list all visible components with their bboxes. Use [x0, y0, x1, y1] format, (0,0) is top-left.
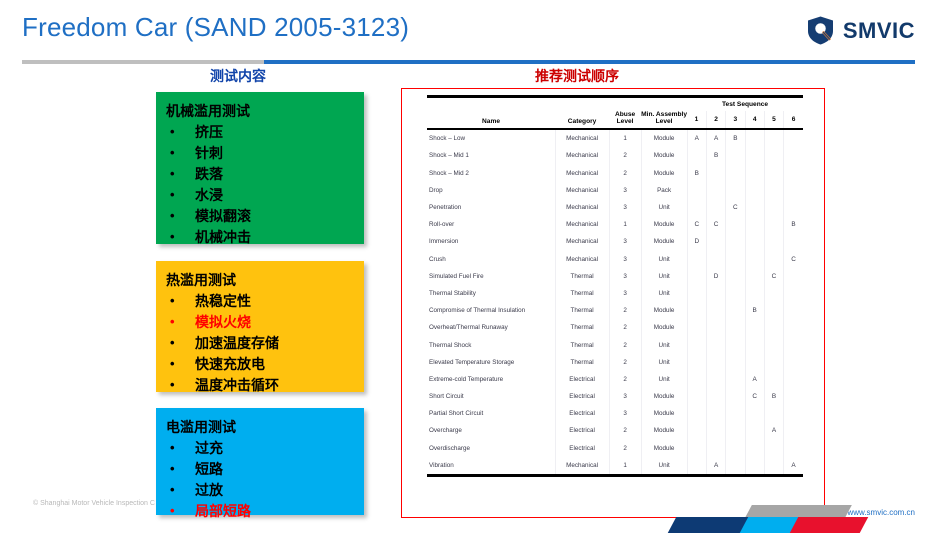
cell-seq-1: A [687, 130, 706, 147]
cell-seq-3 [726, 182, 745, 199]
header-min-assembly-level: Min. Assembly Level [641, 98, 687, 128]
cell-abuse-level: 3 [609, 285, 641, 302]
cell-seq-2: B [706, 147, 725, 164]
box-title: 电滥用测试 [166, 417, 364, 437]
box-item-list: 挤压针刺跌落水浸模拟翻滚机械冲击 [156, 122, 364, 248]
cell-name: Elevated Temperature Storage [427, 354, 555, 371]
header-seq-1: 1 [687, 111, 706, 128]
header-seq-5: 5 [764, 111, 783, 128]
cell-name: Extreme-cold Temperature [427, 371, 555, 388]
cell-seq-2 [706, 302, 725, 319]
cell-seq-4 [745, 405, 764, 422]
cell-seq-3 [726, 216, 745, 233]
cell-seq-1 [687, 302, 706, 319]
cell-seq-6 [784, 182, 803, 199]
table-row: Thermal StabilityThermal3Unit [427, 285, 803, 302]
smvic-logo: SMVIC [807, 16, 915, 45]
cell-name: Crush [427, 251, 555, 268]
cell-name: Overdischarge [427, 440, 555, 457]
right-column-heading: 推荐测试顺序 [535, 66, 619, 86]
cell-abuse-level: 1 [609, 457, 641, 474]
cell-min-assembly-level: Unit [641, 251, 687, 268]
cell-abuse-level: 2 [609, 302, 641, 319]
cell-seq-2: A [706, 457, 725, 474]
table-row: Partial Short CircuitElectrical3Module [427, 405, 803, 422]
box-title: 机械滥用测试 [166, 101, 364, 121]
cell-seq-1 [687, 268, 706, 285]
cell-seq-5 [764, 371, 783, 388]
box-item: 机械冲击 [166, 227, 364, 248]
header-category: Category [555, 98, 609, 128]
table-row: PenetrationMechanical3UnitC [427, 199, 803, 216]
slide-canvas: Freedom Car (SAND 2005-3123) SMVIC 测试内容 … [0, 0, 937, 533]
cell-category: Mechanical [555, 199, 609, 216]
cell-name: Short Circuit [427, 388, 555, 405]
cell-abuse-level: 3 [609, 405, 641, 422]
left-column-heading: 测试内容 [210, 66, 266, 86]
cell-seq-1 [687, 319, 706, 336]
cell-category: Mechanical [555, 182, 609, 199]
cell-seq-5 [764, 405, 783, 422]
table-row: Shock – Mid 2Mechanical2ModuleB [427, 165, 803, 182]
cell-seq-3 [726, 371, 745, 388]
cell-seq-4: B [745, 302, 764, 319]
cell-seq-5 [764, 199, 783, 216]
cell-category: Thermal [555, 354, 609, 371]
cell-abuse-level: 1 [609, 216, 641, 233]
cell-seq-4 [745, 147, 764, 164]
footer-url: www.smvic.com.cn [847, 508, 915, 517]
box-item: 挤压 [166, 122, 364, 143]
cell-seq-5 [764, 182, 783, 199]
cell-name: Roll-over [427, 216, 555, 233]
cell-seq-2 [706, 371, 725, 388]
cell-seq-6 [784, 388, 803, 405]
cell-abuse-level: 2 [609, 147, 641, 164]
cell-seq-2 [706, 251, 725, 268]
cell-seq-5: B [764, 388, 783, 405]
box-item: 模拟翻滚 [166, 206, 364, 227]
cell-name: Thermal Shock [427, 336, 555, 353]
test-sequence-body-table: Shock – LowMechanical1ModuleAABShock – M… [427, 130, 803, 474]
cell-seq-5 [764, 233, 783, 250]
table-row: Elevated Temperature StorageThermal2Unit [427, 354, 803, 371]
cell-seq-4 [745, 457, 764, 474]
cell-seq-4: A [745, 371, 764, 388]
cell-category: Mechanical [555, 216, 609, 233]
cell-seq-2: D [706, 268, 725, 285]
table-row: Short CircuitElectrical3ModuleCB [427, 388, 803, 405]
cell-seq-6 [784, 336, 803, 353]
footer-shape-red [790, 517, 869, 533]
cell-seq-2 [706, 354, 725, 371]
cell-category: Mechanical [555, 457, 609, 474]
cell-seq-5 [764, 457, 783, 474]
table-row: VibrationMechanical1UnitAA [427, 457, 803, 474]
cell-seq-4 [745, 182, 764, 199]
box-title: 热滥用测试 [166, 270, 364, 290]
cell-seq-6 [784, 130, 803, 147]
cell-seq-4 [745, 233, 764, 250]
cell-seq-3: C [726, 199, 745, 216]
cell-name: Overcharge [427, 422, 555, 439]
cell-abuse-level: 3 [609, 199, 641, 216]
test-sequence-panel: Name Category Abuse Level Min. Assembly … [401, 88, 825, 518]
box-item: 加速温度存储 [166, 333, 364, 354]
cell-seq-4: C [745, 388, 764, 405]
cell-seq-4 [745, 251, 764, 268]
cell-min-assembly-level: Unit [641, 457, 687, 474]
cell-seq-5 [764, 285, 783, 302]
cell-seq-2 [706, 388, 725, 405]
cell-category: Mechanical [555, 165, 609, 182]
cell-min-assembly-level: Pack [641, 182, 687, 199]
cell-seq-2: C [706, 216, 725, 233]
box-item: 过放 [166, 480, 364, 501]
cell-seq-1 [687, 440, 706, 457]
box-mechanical: 机械滥用测试挤压针刺跌落水浸模拟翻滚机械冲击 [156, 92, 364, 244]
cell-min-assembly-level: Module [641, 405, 687, 422]
cell-min-assembly-level: Module [641, 147, 687, 164]
cell-seq-5 [764, 147, 783, 164]
cell-name: Partial Short Circuit [427, 405, 555, 422]
cell-seq-5 [764, 251, 783, 268]
cell-seq-6 [784, 405, 803, 422]
cell-min-assembly-level: Unit [641, 371, 687, 388]
cell-seq-3 [726, 233, 745, 250]
cell-seq-4 [745, 422, 764, 439]
cell-seq-6 [784, 147, 803, 164]
cell-abuse-level: 2 [609, 440, 641, 457]
cell-seq-4 [745, 165, 764, 182]
cell-seq-3 [726, 251, 745, 268]
cell-category: Thermal [555, 319, 609, 336]
cell-abuse-level: 2 [609, 165, 641, 182]
cell-seq-6 [784, 440, 803, 457]
table-row: ImmersionMechanical3ModuleD [427, 233, 803, 250]
cell-category: Electrical [555, 440, 609, 457]
cell-seq-4 [745, 199, 764, 216]
table-bottom-rule [427, 474, 803, 477]
cell-seq-3 [726, 147, 745, 164]
cell-min-assembly-level: Module [641, 130, 687, 147]
header-abuse-level: Abuse Level [609, 98, 641, 128]
cell-seq-3 [726, 336, 745, 353]
cell-seq-5 [764, 216, 783, 233]
cell-seq-6 [784, 354, 803, 371]
table-row: Thermal ShockThermal2Unit [427, 336, 803, 353]
box-item: 局部短路 [166, 501, 364, 522]
box-item: 快速充放电 [166, 354, 364, 375]
page-title: Freedom Car (SAND 2005-3123) [22, 12, 409, 43]
cell-abuse-level: 3 [609, 251, 641, 268]
cell-seq-2 [706, 440, 725, 457]
cell-abuse-level: 3 [609, 388, 641, 405]
cell-seq-1: D [687, 233, 706, 250]
cell-seq-1 [687, 354, 706, 371]
cell-seq-1 [687, 199, 706, 216]
cell-seq-4 [745, 440, 764, 457]
header-seq-6: 6 [784, 111, 803, 128]
box-item: 模拟火烧 [166, 312, 364, 333]
table-header: Name Category Abuse Level Min. Assembly … [427, 98, 803, 128]
title-rule-blue [264, 60, 915, 64]
cell-abuse-level: 1 [609, 130, 641, 147]
cell-seq-6 [784, 165, 803, 182]
cell-seq-5: C [764, 268, 783, 285]
cell-seq-3 [726, 388, 745, 405]
cell-name: Thermal Stability [427, 285, 555, 302]
cell-abuse-level: 3 [609, 268, 641, 285]
cell-seq-6 [784, 233, 803, 250]
cell-seq-4 [745, 216, 764, 233]
cell-name: Compromise of Thermal Insulation [427, 302, 555, 319]
cell-min-assembly-level: Module [641, 422, 687, 439]
box-thermal: 热滥用测试热稳定性模拟火烧加速温度存储快速充放电温度冲击循环 [156, 261, 364, 392]
cell-seq-5 [764, 319, 783, 336]
cell-seq-2 [706, 199, 725, 216]
cell-name: Shock – Mid 2 [427, 165, 555, 182]
cell-category: Thermal [555, 268, 609, 285]
cell-abuse-level: 3 [609, 233, 641, 250]
cell-seq-3 [726, 268, 745, 285]
cell-min-assembly-level: Module [641, 440, 687, 457]
header-test-sequence: Test Sequence [687, 98, 803, 111]
cell-seq-1 [687, 182, 706, 199]
cell-seq-4 [745, 336, 764, 353]
cell-abuse-level: 2 [609, 319, 641, 336]
cell-seq-1: B [687, 165, 706, 182]
cell-seq-6 [784, 319, 803, 336]
cell-seq-5: A [764, 422, 783, 439]
logo-wordmark: SMVIC [843, 18, 915, 44]
box-item-list: 过充短路过放局部短路 [156, 438, 364, 522]
cell-seq-6 [784, 199, 803, 216]
box-item: 水浸 [166, 185, 364, 206]
box-item: 针刺 [166, 143, 364, 164]
cell-name: Immersion [427, 233, 555, 250]
cell-seq-3 [726, 440, 745, 457]
cell-seq-6: B [784, 216, 803, 233]
cell-category: Mechanical [555, 251, 609, 268]
cell-seq-6: A [784, 457, 803, 474]
shield-magnifier-icon [807, 16, 834, 45]
cell-category: Mechanical [555, 130, 609, 147]
cell-min-assembly-level: Unit [641, 354, 687, 371]
cell-name: Drop [427, 182, 555, 199]
box-item: 热稳定性 [166, 291, 364, 312]
cell-seq-5 [764, 440, 783, 457]
cell-name: Overheat/Thermal Runaway [427, 319, 555, 336]
cell-seq-4 [745, 285, 764, 302]
table-row: Compromise of Thermal InsulationThermal2… [427, 302, 803, 319]
table-row: Shock – Mid 1Mechanical2ModuleB [427, 147, 803, 164]
cell-seq-3 [726, 422, 745, 439]
cell-seq-6 [784, 302, 803, 319]
cell-abuse-level: 2 [609, 371, 641, 388]
cell-abuse-level: 2 [609, 354, 641, 371]
cell-name: Vibration [427, 457, 555, 474]
box-item: 短路 [166, 459, 364, 480]
cell-seq-1 [687, 251, 706, 268]
cell-seq-1 [687, 336, 706, 353]
cell-seq-2 [706, 422, 725, 439]
cell-seq-2: A [706, 130, 725, 147]
cell-seq-3 [726, 405, 745, 422]
table-row: DropMechanical3Pack [427, 182, 803, 199]
cell-seq-6 [784, 268, 803, 285]
cell-seq-2 [706, 336, 725, 353]
cell-category: Thermal [555, 285, 609, 302]
box-item: 跌落 [166, 164, 364, 185]
cell-category: Electrical [555, 371, 609, 388]
cell-seq-2 [706, 165, 725, 182]
title-rule-grey [22, 60, 264, 64]
cell-category: Mechanical [555, 233, 609, 250]
cell-seq-5 [764, 336, 783, 353]
cell-seq-3 [726, 285, 745, 302]
cell-abuse-level: 2 [609, 336, 641, 353]
box-item: 过充 [166, 438, 364, 459]
cell-min-assembly-level: Unit [641, 285, 687, 302]
cell-min-assembly-level: Module [641, 302, 687, 319]
cell-seq-2 [706, 233, 725, 250]
cell-seq-6 [784, 371, 803, 388]
cell-abuse-level: 3 [609, 182, 641, 199]
cell-seq-2 [706, 405, 725, 422]
cell-seq-3 [726, 302, 745, 319]
cell-seq-2 [706, 285, 725, 302]
cell-category: Electrical [555, 422, 609, 439]
cell-abuse-level: 2 [609, 422, 641, 439]
cell-category: Electrical [555, 388, 609, 405]
cell-seq-3 [726, 319, 745, 336]
table-row: Shock – LowMechanical1ModuleAAB [427, 130, 803, 147]
cell-seq-6 [784, 422, 803, 439]
cell-seq-5 [764, 130, 783, 147]
cell-seq-1 [687, 405, 706, 422]
cell-min-assembly-level: Module [641, 233, 687, 250]
cell-seq-3: B [726, 130, 745, 147]
cell-category: Thermal [555, 302, 609, 319]
table-row: Overheat/Thermal RunawayThermal2Module [427, 319, 803, 336]
cell-min-assembly-level: Module [641, 319, 687, 336]
cell-name: Simulated Fuel Fire [427, 268, 555, 285]
cell-seq-1: C [687, 216, 706, 233]
table-row: Extreme-cold TemperatureElectrical2UnitA [427, 371, 803, 388]
cell-seq-6: C [784, 251, 803, 268]
cell-seq-1 [687, 422, 706, 439]
cell-seq-3 [726, 354, 745, 371]
cell-seq-3 [726, 457, 745, 474]
cell-seq-5 [764, 302, 783, 319]
cell-seq-3 [726, 165, 745, 182]
header-seq-3: 3 [726, 111, 745, 128]
header-seq-4: 4 [745, 111, 764, 128]
cell-name: Shock – Low [427, 130, 555, 147]
table-row: CrushMechanical3UnitC [427, 251, 803, 268]
test-sequence-table: Name Category Abuse Level Min. Assembly … [427, 98, 803, 128]
cell-min-assembly-level: Unit [641, 268, 687, 285]
cell-seq-1 [687, 285, 706, 302]
table-row: OverdischargeElectrical2Module [427, 440, 803, 457]
table-row: OverchargeElectrical2ModuleA [427, 422, 803, 439]
box-electrical: 电滥用测试过充短路过放局部短路 [156, 408, 364, 515]
cell-seq-1 [687, 147, 706, 164]
cell-min-assembly-level: Module [641, 216, 687, 233]
cell-category: Thermal [555, 336, 609, 353]
cell-min-assembly-level: Module [641, 165, 687, 182]
cell-category: Electrical [555, 405, 609, 422]
cell-seq-2 [706, 319, 725, 336]
cell-category: Mechanical [555, 147, 609, 164]
cell-seq-1 [687, 388, 706, 405]
cell-name: Penetration [427, 199, 555, 216]
cell-seq-4 [745, 354, 764, 371]
cell-seq-5 [764, 165, 783, 182]
cell-seq-4 [745, 319, 764, 336]
cell-seq-4 [745, 268, 764, 285]
cell-min-assembly-level: Unit [641, 199, 687, 216]
cell-seq-1 [687, 371, 706, 388]
header-name: Name [427, 98, 555, 128]
box-item-list: 热稳定性模拟火烧加速温度存储快速充放电温度冲击循环 [156, 291, 364, 396]
cell-seq-6 [784, 285, 803, 302]
box-item: 温度冲击循环 [166, 375, 364, 396]
cell-seq-5 [764, 354, 783, 371]
table-row: Simulated Fuel FireThermal3UnitDC [427, 268, 803, 285]
cell-seq-4 [745, 130, 764, 147]
cell-min-assembly-level: Module [641, 388, 687, 405]
cell-seq-2 [706, 182, 725, 199]
header-seq-2: 2 [706, 111, 725, 128]
cell-min-assembly-level: Unit [641, 336, 687, 353]
cell-name: Shock – Mid 1 [427, 147, 555, 164]
footer-copyright: © Shanghai Motor Vehicle Inspection C [33, 500, 155, 507]
table-row: Roll-overMechanical1ModuleCCB [427, 216, 803, 233]
cell-seq-1 [687, 457, 706, 474]
